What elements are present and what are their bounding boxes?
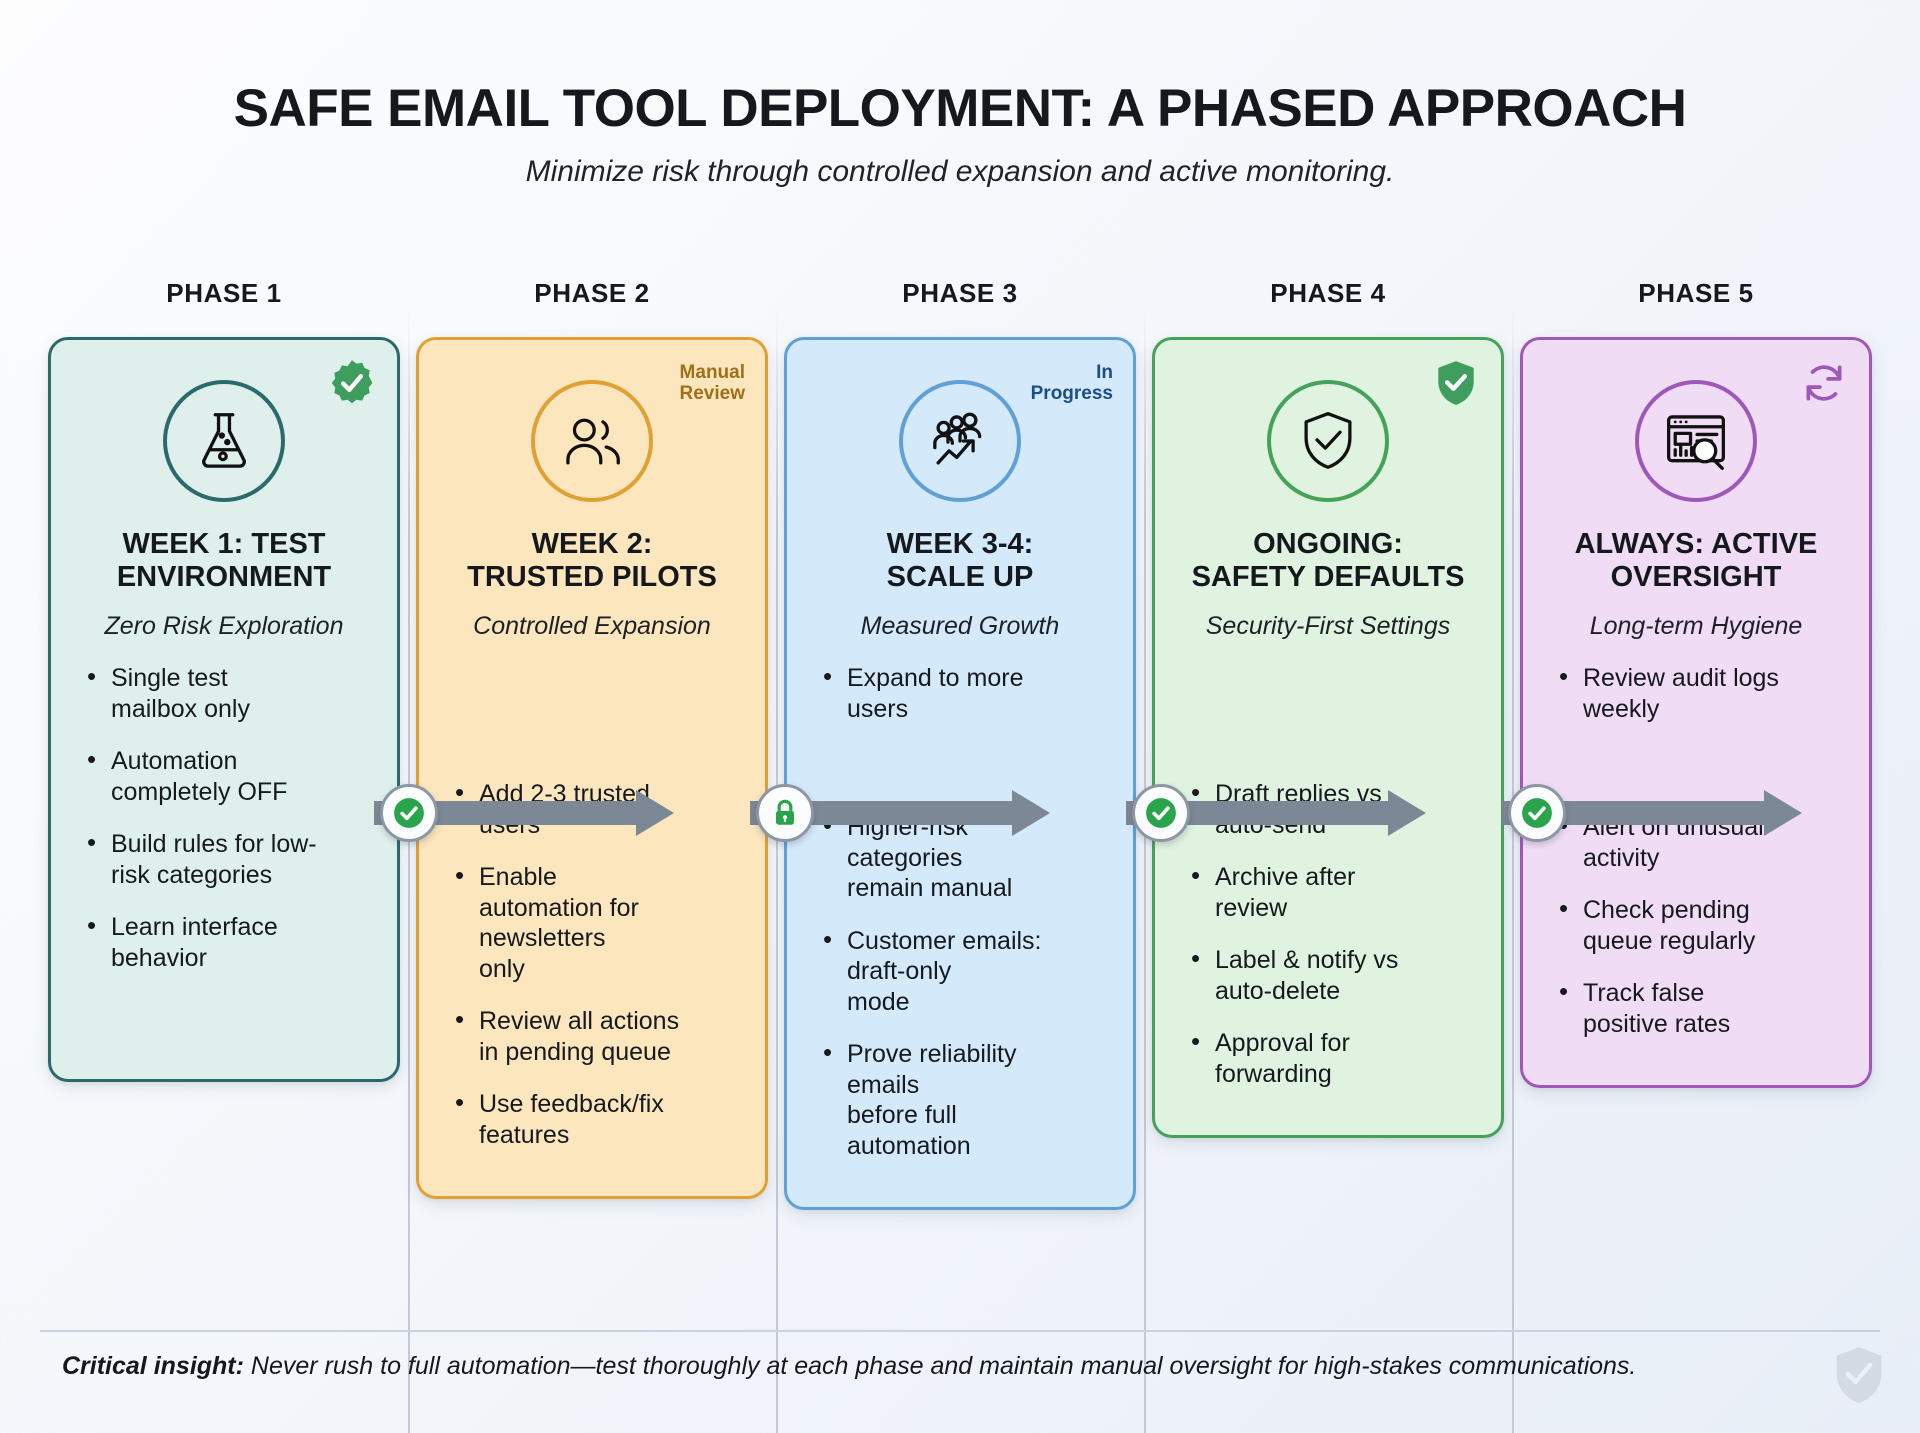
list-item: Build rules for low- risk categories (85, 829, 373, 890)
list-item: Single test mailbox only (85, 663, 373, 724)
phase-title-1: WEEK 1: TEST ENVIRONMENT (71, 528, 377, 594)
status-badge-in-progress: In Progress (1031, 362, 1113, 405)
users-icon (531, 380, 653, 502)
phase-column-4: PHASE 4 ONGOING: SAFETY DEFAULTS Securit… (1144, 278, 1512, 1138)
shield-check-watermark-icon (1832, 1345, 1886, 1403)
phase-tagline-1: Zero Risk Exploration (71, 612, 377, 641)
phase-column-1: PHASE 1 WEEK 1: TEST ENVIRONMENT Zero Ri… (40, 278, 408, 1082)
phase-column-5: PHASE 5 ALWAYS: (1512, 278, 1880, 1088)
list-item: Use feedback/fix features (453, 1089, 741, 1150)
footer-lead: Critical insight: (62, 1352, 244, 1380)
list-item: Automation completely OFF (85, 746, 373, 807)
list-item: Approval for forwarding (1189, 1028, 1477, 1089)
list-item: Learn interface behavior (85, 912, 373, 973)
phase-tagline-3: Measured Growth (807, 612, 1113, 641)
list-item: Add 2-3 trusted users (453, 779, 741, 840)
phase-columns: PHASE 1 WEEK 1: TEST ENVIRONMENT Zero Ri… (40, 278, 1880, 1210)
phase-column-2: PHASE 2 Manual Review WEEK 2: TRUSTED PI… (408, 278, 776, 1199)
list-item: Customer emails: draft-only mode (821, 926, 1109, 1018)
footer-divider (40, 1330, 1880, 1332)
phase-card-5[interactable]: ALWAYS: ACTIVE OVERSIGHT Long-term Hygie… (1520, 337, 1872, 1088)
shield-check-icon (1267, 380, 1389, 502)
list-item: Review all actions in pending queue (453, 1006, 741, 1067)
list-item: Higher-risk categories remain manual (821, 812, 1109, 904)
phase-column-3: PHASE 3 In Progress WEEK 3-4: SCALE UP M… (776, 278, 1144, 1210)
phase-tagline-2: Controlled Expansion (439, 612, 745, 641)
header: Safe Email Tool Deployment: A Phased App… (0, 0, 1920, 189)
flask-icon (163, 380, 285, 502)
phase-card-3[interactable]: In Progress WEEK 3-4: SCALE UP Measured … (784, 337, 1136, 1210)
phase-tagline-4: Security-First Settings (1175, 612, 1481, 641)
phase-tagline-5: Long-term Hygiene (1543, 612, 1849, 641)
list-item: Archive after review (1189, 862, 1477, 923)
list-item: Check pending queue regularly (1557, 895, 1845, 956)
phase-title-4: ONGOING: SAFETY DEFAULTS (1175, 528, 1481, 594)
list-item: Enable automation for newsletters only (453, 862, 741, 984)
phase-title-3: WEEK 3-4: SCALE UP (807, 528, 1113, 594)
phase-label-1: PHASE 1 (48, 278, 400, 309)
page-subtitle: Minimize risk through controlled expansi… (0, 155, 1920, 189)
status-badge-manual-review: Manual Review (680, 362, 745, 405)
list-item: Alert on unusual activity (1557, 812, 1845, 873)
list-item: Track false positive rates (1557, 978, 1845, 1039)
phase-label-3: PHASE 3 (784, 278, 1136, 309)
list-item: Expand to more users (821, 663, 1109, 724)
phase-card-2[interactable]: Manual Review WEEK 2: TRUSTED PILOTS Con… (416, 337, 768, 1199)
shield-filled-badge-icon (1431, 358, 1481, 408)
page-title: Safe Email Tool Deployment: A Phased App… (0, 78, 1920, 139)
phase-label-4: PHASE 4 (1152, 278, 1504, 309)
phase-bullets-2: Add 2-3 trusted users Enable automation … (439, 779, 745, 1150)
phase-title-5: ALWAYS: ACTIVE OVERSIGHT (1543, 528, 1849, 594)
phase-label-5: PHASE 5 (1520, 278, 1872, 309)
phase-label-2: PHASE 2 (416, 278, 768, 309)
refresh-sync-badge-icon (1799, 358, 1849, 408)
phase-card-1[interactable]: WEEK 1: TEST ENVIRONMENT Zero Risk Explo… (48, 337, 400, 1082)
phase-bullets-1: Single test mailbox only Automation comp… (71, 663, 377, 973)
phase-bullets-3: Expand to more users Higher-risk categor… (807, 663, 1113, 1161)
list-item: Prove reliability emails before full aut… (821, 1039, 1109, 1161)
verified-check-badge-icon (327, 358, 377, 408)
list-item: Label & notify vs auto-delete (1189, 945, 1477, 1006)
list-item: Review audit logs weekly (1557, 663, 1845, 724)
dashboard-search-icon (1635, 380, 1757, 502)
growth-chart-people-icon (899, 380, 1021, 502)
phase-bullets-5: Review audit logs weekly Alert on unusua… (1543, 663, 1849, 1039)
list-item: Draft replies vs auto-send (1189, 779, 1477, 840)
phase-bullets-4: Draft replies vs auto-send Archive after… (1175, 779, 1481, 1089)
phase-title-2: WEEK 2: TRUSTED PILOTS (439, 528, 745, 594)
phase-card-4[interactable]: ONGOING: SAFETY DEFAULTS Security-First … (1152, 337, 1504, 1138)
footer-note: Critical insight: Never rush to full aut… (62, 1352, 1636, 1381)
footer-text: Never rush to full automation—test thoro… (244, 1352, 1636, 1380)
